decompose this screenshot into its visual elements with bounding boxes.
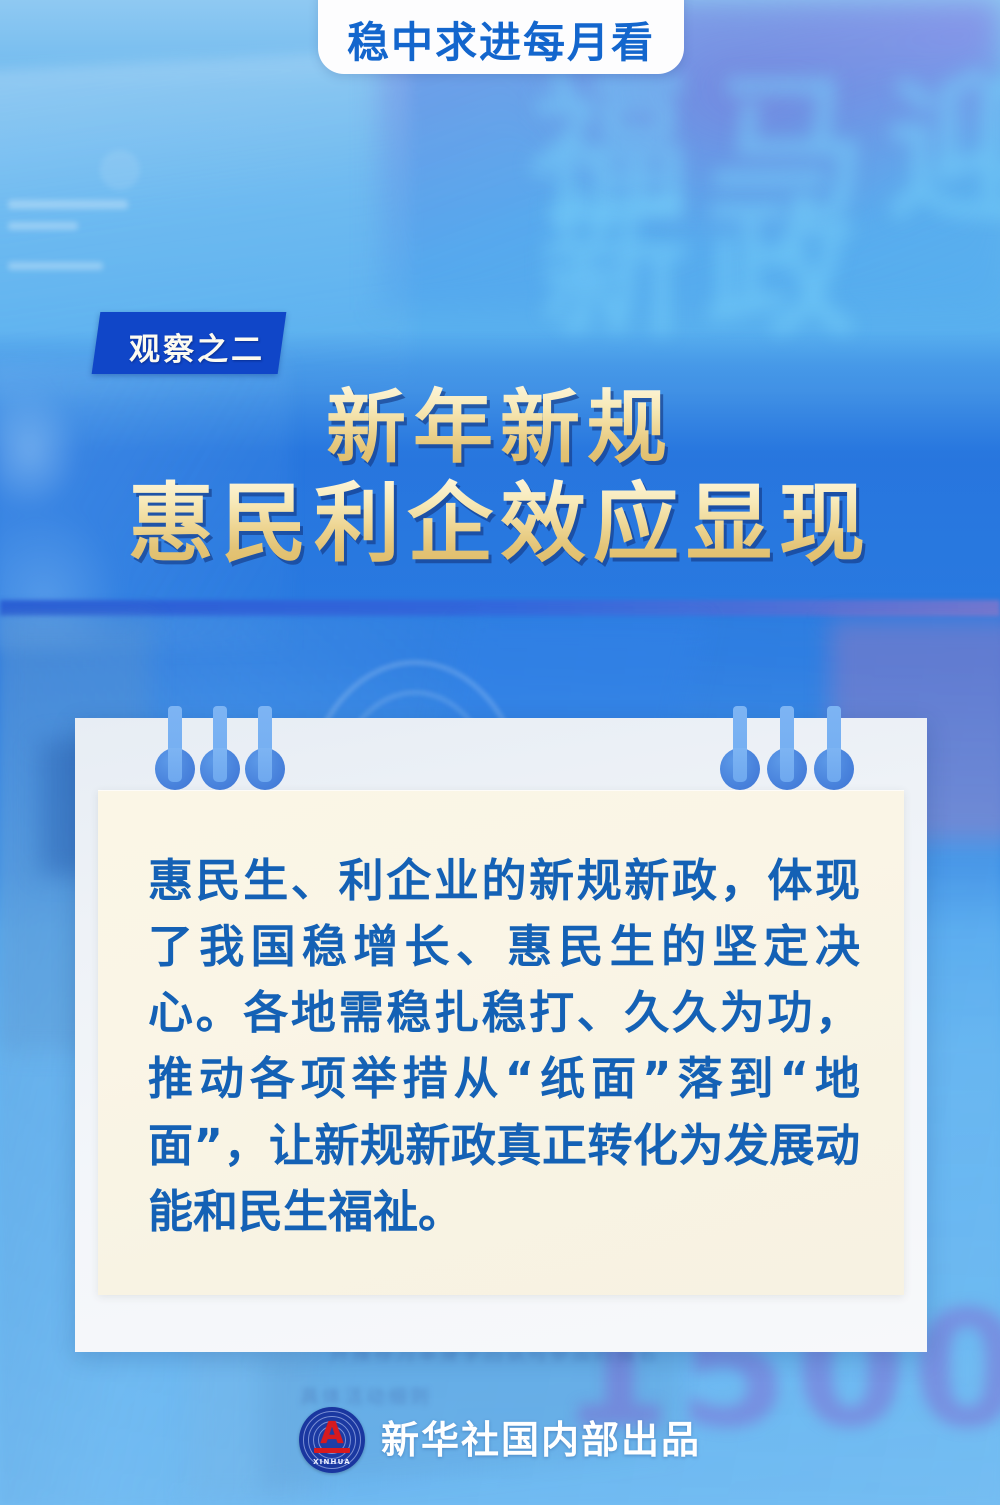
page-title: 新年新规 惠民利企效应显现 xyxy=(0,382,1000,573)
background-blur-dot xyxy=(100,150,140,190)
xinhua-logo-wordmark: XINHUA xyxy=(299,1458,365,1466)
footer: А XINHUA 新华社国内部出品 xyxy=(0,1398,1000,1482)
background-blur-line xyxy=(8,200,128,209)
top-badge-label: 稳中求进每月看 xyxy=(347,22,655,64)
page-title-line-2: 惠民利企效应显现 xyxy=(0,475,1000,573)
xinhua-logo-icon: А XINHUA xyxy=(299,1407,365,1473)
background-blur-line xyxy=(8,262,103,270)
footer-credit: 新华社国内部出品 xyxy=(381,1421,701,1459)
page-title-line-1: 新年新规 xyxy=(0,382,1000,473)
top-badge: 稳中求进每月看 xyxy=(318,0,684,74)
note-card-body: 惠民生、利企业的新规新政，体现了我国稳增长、惠民生的坚定决心。各地需稳扎稳打、久… xyxy=(148,848,860,1245)
poster-root: 福马迎 新政 1500 并推荐为本身学历认可参加的报名 具体活动细则 稳中求进每… xyxy=(0,0,1000,1505)
observation-tag-label: 观察之二 xyxy=(104,318,290,374)
background-headline-2: 新政 xyxy=(540,195,872,345)
background-blur-line xyxy=(8,222,78,230)
